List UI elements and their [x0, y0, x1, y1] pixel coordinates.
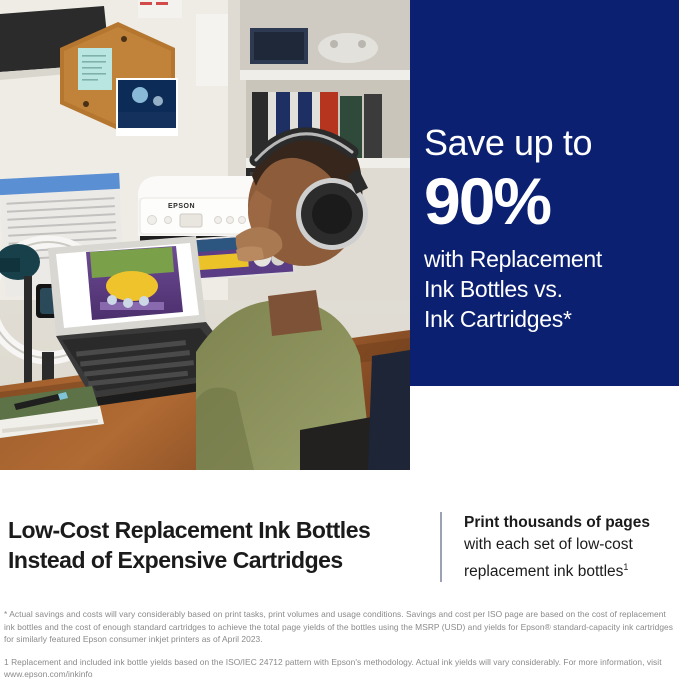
- footnote-one: 1 Replacement and included ink bottle yi…: [4, 656, 675, 681]
- headline-save-up-to: Save up to: [424, 122, 674, 164]
- pages-claim-body: with each set of low-cost replacement in…: [464, 534, 650, 583]
- value-prop-headline: Low-Cost Replacement Ink Bottles Instead…: [8, 515, 440, 575]
- value-prop-band: Low-Cost Replacement Ink Bottles Instead…: [0, 470, 679, 600]
- value-prop-headline-line2: Instead of Expensive Cartridges: [8, 547, 343, 573]
- headline-subtext: with Replacement Ink Bottles vs. Ink Car…: [424, 244, 674, 334]
- svg-text:EPSON: EPSON: [168, 203, 195, 210]
- footnotes-block: * Actual savings and costs will vary con…: [0, 608, 679, 691]
- hero-banner: EPSON: [0, 0, 679, 470]
- lifestyle-photo: EPSON: [0, 0, 410, 470]
- value-prop-left: Low-Cost Replacement Ink Bottles Instead…: [0, 470, 440, 575]
- footnote-asterisk: * Actual savings and costs will vary con…: [4, 608, 675, 646]
- hero-headline-block: Save up to 90% with Replacement Ink Bott…: [424, 122, 674, 334]
- value-prop-headline-line1: Low-Cost Replacement Ink Bottles: [8, 517, 370, 543]
- headline-subtext-line3: Ink Cartridges*: [424, 306, 572, 332]
- headline-subtext-line2: Ink Bottles vs.: [424, 276, 563, 302]
- value-prop-right: Print thousands of pages with each set o…: [442, 470, 650, 583]
- pages-claim-strong: Print thousands of pages: [464, 512, 650, 534]
- footnote-marker-one: 1: [623, 562, 628, 572]
- pages-claim-body-line1: with each set of low-cost: [464, 536, 633, 553]
- headline-percent: 90%: [424, 166, 674, 236]
- headline-subtext-line1: with Replacement: [424, 246, 602, 272]
- pages-claim-body-line2: replacement ink bottles: [464, 563, 623, 580]
